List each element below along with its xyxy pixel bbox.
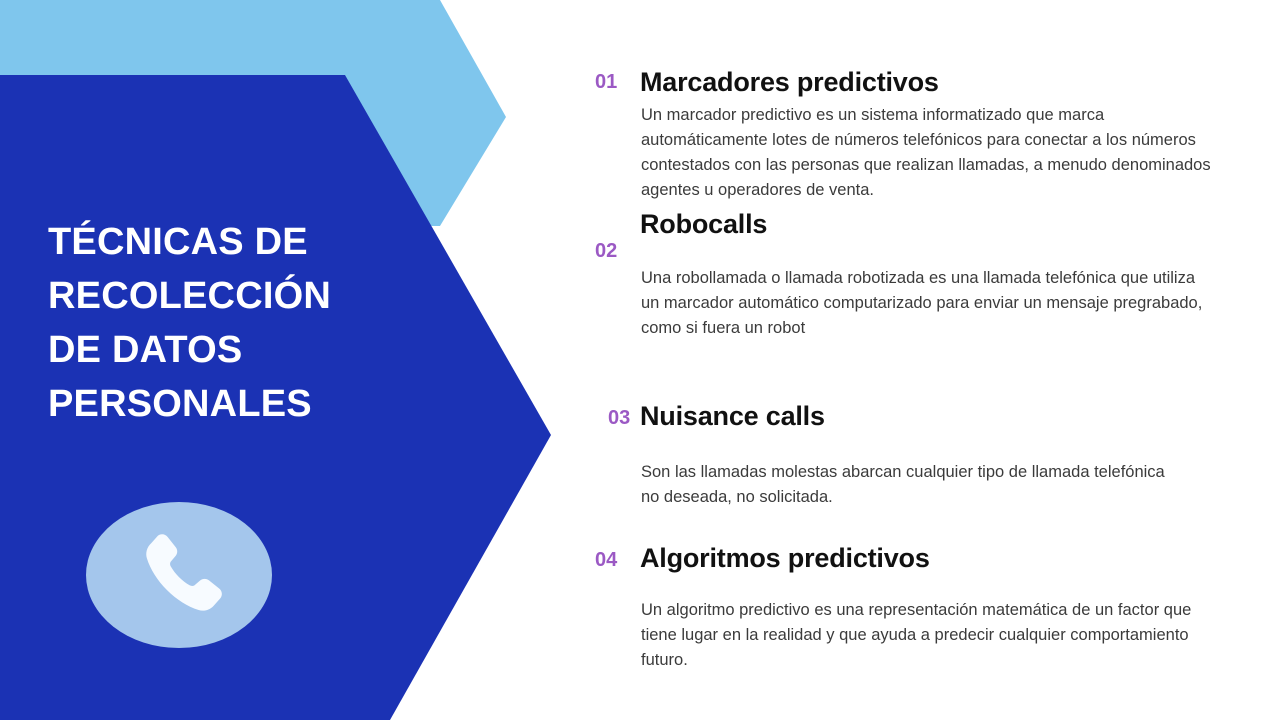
page-title: TÉCNICAS DE RECOLECCIÓN DE DATOS PERSONA… [48,216,388,432]
item-heading: Algoritmos predictivos [640,545,930,572]
left-panel: TÉCNICAS DE RECOLECCIÓN DE DATOS PERSONA… [0,0,560,720]
phone-icon-badge [86,502,272,648]
item-number: 01 [595,72,617,92]
item-body: Una robollamada o llamada robotizada es … [641,266,1206,341]
item-body: Un marcador predictivo es un sistema inf… [641,103,1216,203]
item-number: 03 [608,408,630,428]
item-heading: Robocalls [640,211,767,238]
item-number: 02 [595,241,617,261]
item-heading: Marcadores predictivos [640,69,939,96]
slide-canvas: TÉCNICAS DE RECOLECCIÓN DE DATOS PERSONA… [0,0,1280,720]
phone-icon [129,525,229,625]
item-heading: Nuisance calls [640,403,825,430]
item-number: 04 [595,550,617,570]
item-body: Son las llamadas molestas abarcan cualqu… [641,460,1186,510]
item-body: Un algoritmo predictivo es una represent… [641,598,1216,673]
content-list: 01 Marcadores predictivos Un marcador pr… [590,0,1230,720]
